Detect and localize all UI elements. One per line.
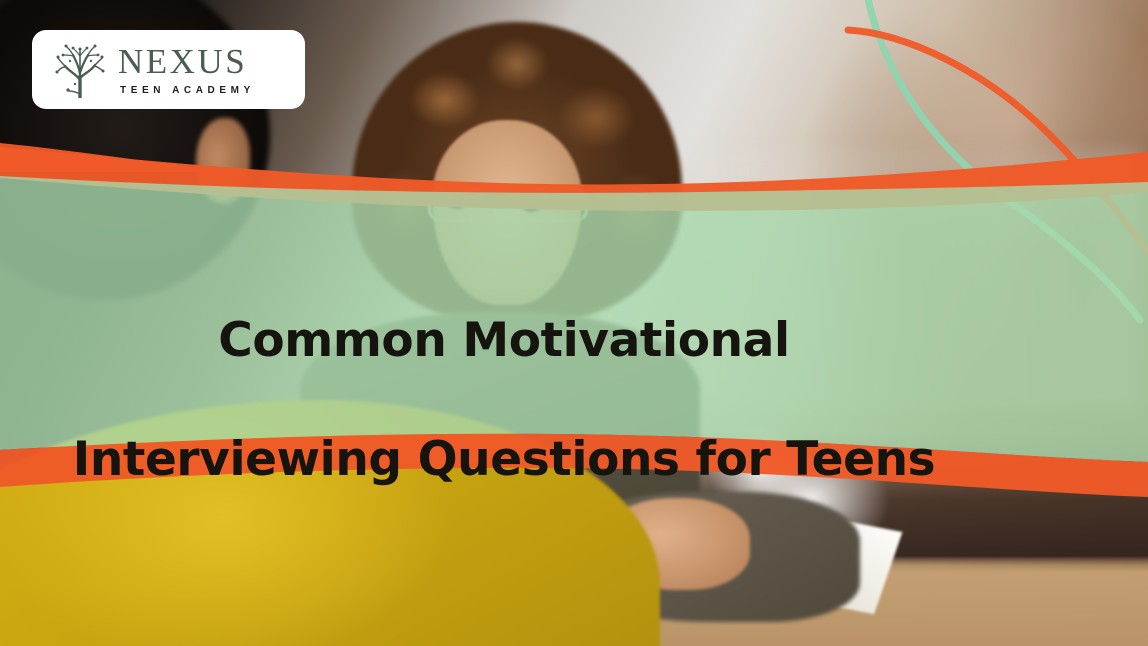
blog-hero-banner: NEXUS TEEN ACADEMY Common Motivational I… <box>0 0 1148 646</box>
logo-tagline: TEEN ACADEMY <box>120 85 255 96</box>
brand-logo[interactable]: NEXUS TEEN ACADEMY <box>32 30 305 109</box>
tree-icon <box>54 42 106 98</box>
logo-name: NEXUS <box>118 44 255 79</box>
logo-wordmark: NEXUS TEEN ACADEMY <box>118 44 255 96</box>
orange-wedge-topleft <box>0 143 230 172</box>
headline-line-1: Common Motivational <box>218 313 789 368</box>
headline-line-2: Interviewing Questions for Teens <box>73 432 936 487</box>
banner-headline: Common Motivational Interviewing Questio… <box>0 252 1148 489</box>
